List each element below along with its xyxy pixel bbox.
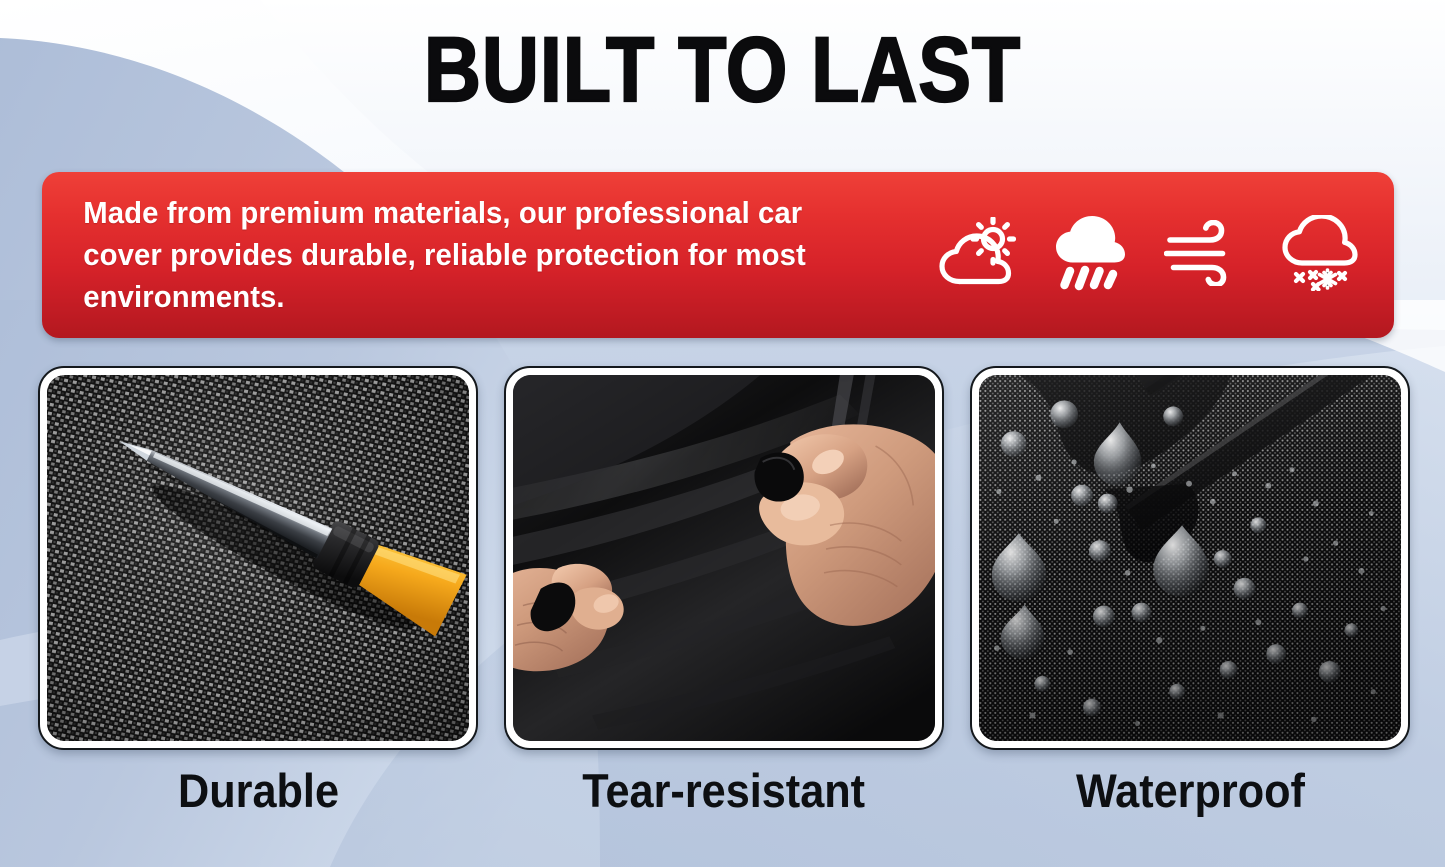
banner-description-text: Made from premium materials, our profess…	[42, 192, 887, 318]
sun-behind-cloud-icon	[938, 217, 1016, 289]
feature-label-tear-resistant: Tear-resistant	[583, 767, 866, 814]
hands-stretching-black-material-photo	[513, 375, 935, 741]
description-banner: Made from premium materials, our profess…	[42, 172, 1394, 338]
product-feature-banner: BUILT TO LAST Made from premium material…	[0, 0, 1445, 867]
feature-label-durable: Durable	[178, 767, 339, 814]
page-title: BUILT TO LAST	[101, 24, 1344, 116]
feature-image-frame	[970, 366, 1410, 750]
wind-icon	[1164, 220, 1244, 286]
feature-panel-row: Durable	[38, 366, 1410, 836]
feature-card-waterproof[interactable]: Waterproof	[970, 366, 1410, 836]
feature-image-frame	[38, 366, 478, 750]
screwdriver-on-woven-fabric-photo	[47, 375, 469, 741]
feature-image-frame	[504, 366, 944, 750]
durable-photo-svg	[47, 375, 469, 741]
tear-resistant-photo-svg	[513, 375, 935, 741]
feature-card-durable[interactable]: Durable	[38, 366, 478, 836]
snow-cloud-icon	[1280, 215, 1360, 291]
water-beads-on-fabric-photo	[979, 375, 1401, 741]
waterproof-photo-svg	[979, 375, 1401, 741]
weather-icon-group	[922, 215, 1394, 295]
feature-card-tear-resistant[interactable]: Tear-resistant	[504, 366, 944, 836]
rain-cloud-icon	[1052, 215, 1128, 291]
feature-label-waterproof: Waterproof	[1075, 767, 1304, 814]
